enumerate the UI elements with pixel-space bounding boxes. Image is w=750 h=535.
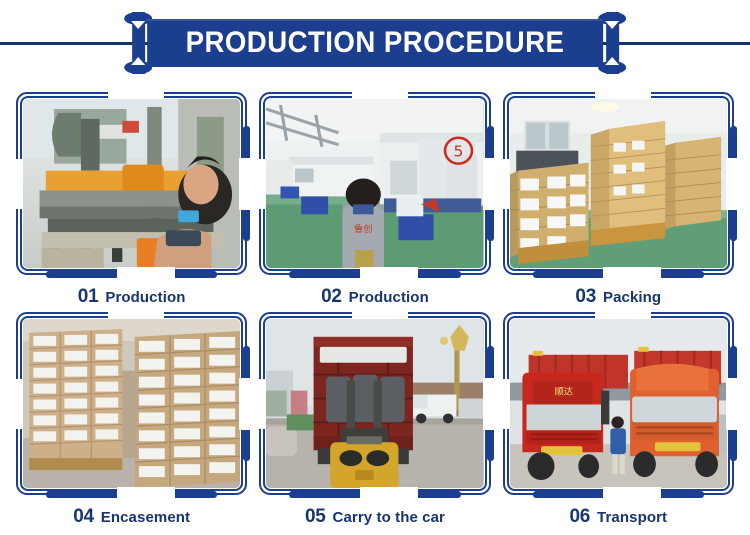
procedure-step-card[interactable]: 04Encasement xyxy=(10,308,253,528)
svg-text:5: 5 xyxy=(454,143,464,161)
step-number: 05 xyxy=(305,506,326,527)
procedure-step-card[interactable]: 03Packing xyxy=(497,88,740,308)
svg-text:鲁创: 鲁创 xyxy=(354,223,373,235)
step-photo-packing-warehouse xyxy=(510,99,727,268)
photo-frame xyxy=(503,92,734,275)
photo-frame: 5 鲁创 xyxy=(259,92,490,275)
step-caption: 02Production xyxy=(259,275,490,308)
photo-frame xyxy=(16,312,247,495)
step-caption: 05Carry to the car xyxy=(259,495,490,528)
title-banner: PRODUCTION PROCEDURE xyxy=(125,12,625,74)
step-number: 04 xyxy=(73,506,94,527)
step-number: 02 xyxy=(321,286,342,307)
banner-plate: PRODUCTION PROCEDURE xyxy=(147,19,603,67)
svg-text:顺达: 顺达 xyxy=(554,386,573,398)
step-number: 01 xyxy=(78,286,99,307)
step-label: Packing xyxy=(603,289,661,306)
procedure-step-card[interactable]: 5 鲁创 xyxy=(253,88,496,308)
step-caption: 03Packing xyxy=(503,275,734,308)
step-label: Transport xyxy=(597,509,667,526)
step-photo-forklift-loading xyxy=(266,319,483,488)
photo-frame: 顺达 xyxy=(503,312,734,495)
photo-frame xyxy=(259,312,490,495)
step-label: Production xyxy=(349,289,429,306)
step-label: Carry to the car xyxy=(333,509,445,526)
step-caption: 01Production xyxy=(16,275,247,308)
procedure-step-grid: 01Production xyxy=(0,88,750,528)
production-procedure-page: PRODUCTION PROCEDURE xyxy=(0,0,750,535)
procedure-step-card[interactable]: 顺达 xyxy=(497,308,740,528)
step-number: 03 xyxy=(575,286,596,307)
step-photo-injection-molding: 5 鲁创 xyxy=(266,99,483,268)
step-photo-encasement xyxy=(23,319,240,488)
step-label: Production xyxy=(105,289,185,306)
step-label: Encasement xyxy=(101,509,190,526)
step-caption: 04Encasement xyxy=(16,495,247,528)
procedure-step-card[interactable]: 01Production xyxy=(10,88,253,308)
page-title: PRODUCTION PROCEDURE xyxy=(186,28,565,58)
step-number: 06 xyxy=(570,506,591,527)
step-photo-transport-trucks: 顺达 xyxy=(510,319,727,488)
page-header: PRODUCTION PROCEDURE xyxy=(0,0,750,86)
photo-frame xyxy=(16,92,247,275)
procedure-step-card[interactable]: 05Carry to the car xyxy=(253,308,496,528)
step-caption: 06Transport xyxy=(503,495,734,528)
step-photo-production-press xyxy=(23,99,240,268)
